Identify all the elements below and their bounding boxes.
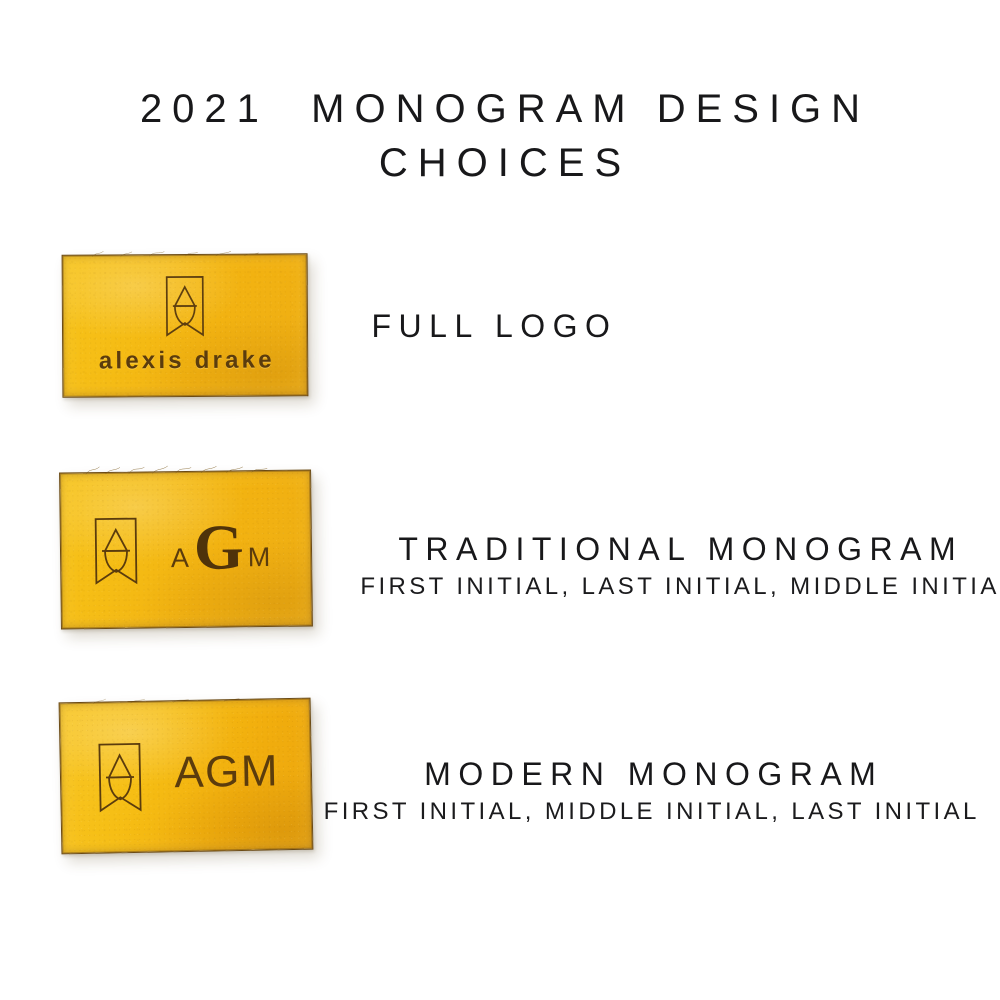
logo-mark-wrap-modern: [94, 740, 146, 822]
leather-tag-modern-monogram: AGM: [59, 698, 314, 855]
tag-face-traditional: A G M: [60, 470, 312, 628]
logo-mark-wrap-traditional: [91, 515, 142, 595]
label-modern-main: MODERN MONOGRAM: [320, 755, 980, 793]
logo-mark-wrap-full-logo: [162, 273, 208, 346]
tag-face-modern: AGM: [60, 699, 313, 854]
monogram-initial-left: A: [171, 545, 190, 572]
monogram-traditional: A G M: [151, 515, 292, 587]
leather-tag-full-logo: alexis drake: [62, 253, 309, 398]
label-block-modern: MODERN MONOGRAM FIRST INITIAL, MIDDLE IN…: [320, 755, 980, 827]
label-modern-sub: FIRST INITIAL, MIDDLE INITIAL, LAST INIT…: [320, 797, 980, 827]
label-block-traditional: TRADITIONAL MONOGRAM FIRST INITIAL, LAST…: [357, 530, 997, 602]
page-title-line-2: CHOICES: [0, 136, 1000, 190]
monogram-initial-right: M: [248, 544, 272, 571]
monogram-modern: AGM: [161, 749, 292, 795]
leather-tag-traditional-monogram: A G M: [59, 469, 313, 629]
tag-brand-wordmark: alexis drake: [63, 346, 307, 375]
label-traditional-sub: FIRST INITIAL, LAST INITIAL, MIDDLE INIT…: [357, 572, 997, 602]
label-block-full-logo: FULL LOGO: [364, 307, 617, 345]
alexis-drake-banner-logo-icon: [162, 273, 208, 341]
page-title: 2021 MONOGRAM DESIGN CHOICES: [0, 82, 1000, 190]
alexis-drake-banner-logo-icon: [94, 740, 145, 817]
tag-face-full-logo: alexis drake: [63, 254, 308, 396]
monogram-initial-center: G: [193, 515, 244, 580]
monogram-design-choices-page: 2021 MONOGRAM DESIGN CHOICES: [0, 0, 1000, 1000]
label-full-logo-main: FULL LOGO: [364, 307, 617, 345]
alexis-drake-banner-logo-icon: [91, 515, 142, 590]
page-title-line-1: 2021 MONOGRAM DESIGN: [0, 82, 1000, 136]
label-traditional-main: TRADITIONAL MONOGRAM: [357, 530, 997, 568]
